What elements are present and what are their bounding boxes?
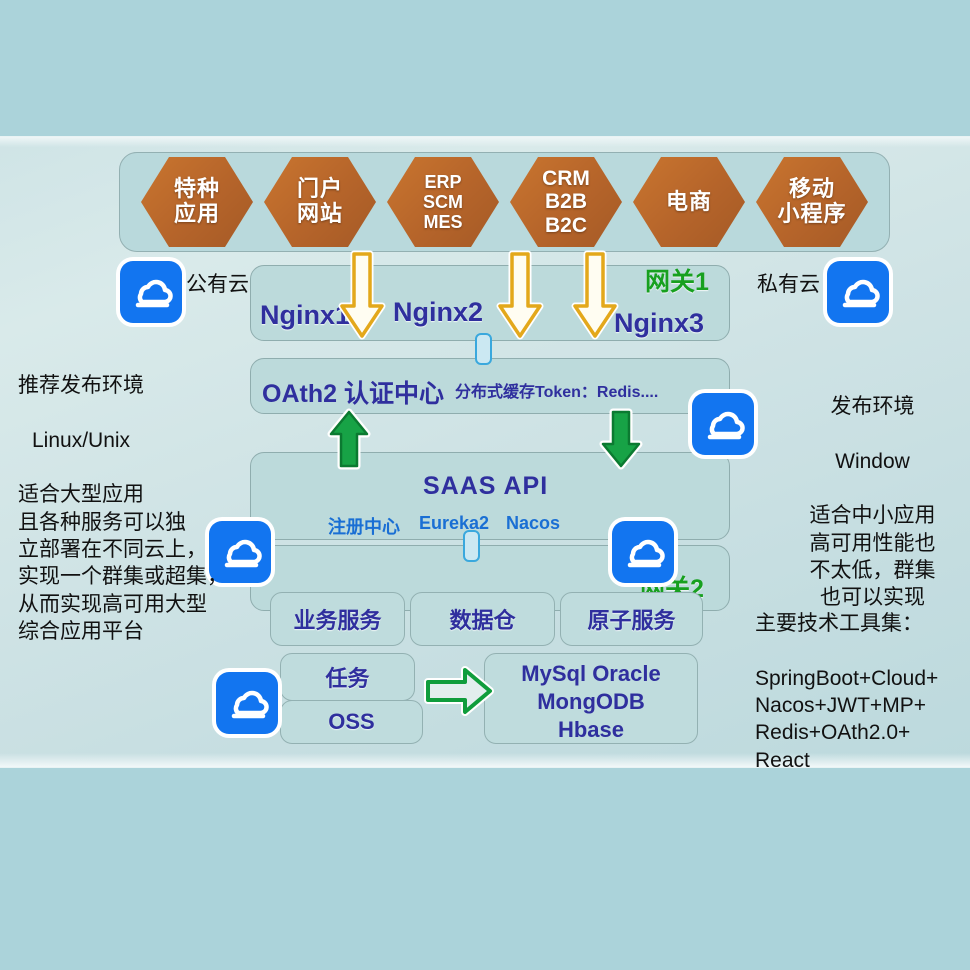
note-left-platform: Linux/Unix xyxy=(18,429,130,452)
app-hex-ecommerce[interactable]: 电商 xyxy=(633,157,745,247)
app-hex-special-app[interactable]: 特种应用 xyxy=(141,157,253,247)
cloud-icon-gateway2[interactable] xyxy=(612,521,674,583)
chip-atomic-service[interactable]: 原子服务 xyxy=(560,592,703,646)
cloud-glyph xyxy=(699,404,747,444)
note-stack-heading: 主要技术工具集： xyxy=(755,612,923,635)
public-cloud-icon[interactable] xyxy=(120,261,182,323)
cloud-glyph xyxy=(834,272,882,312)
application-hexagon-row: 特种应用 门户网站 ERPSCMMES CRMB2BB2C 电商 移动小程序 xyxy=(119,152,890,252)
db-line-1: MySql Oracle xyxy=(521,661,660,686)
database-label: MySql Oracle MongODB Hbase xyxy=(484,660,698,744)
app-hex-portal-site[interactable]: 门户网站 xyxy=(264,157,376,247)
private-cloud-icon[interactable] xyxy=(827,261,889,323)
app-hex-label: 电商 xyxy=(662,190,716,215)
app-hex-label: 特种应用 xyxy=(170,177,224,226)
chip-business-service[interactable]: 业务服务 xyxy=(270,592,405,646)
chip-oss[interactable]: OSS xyxy=(280,700,423,744)
note-left-heading: 推荐发布环境 xyxy=(18,374,144,397)
chip-data-warehouse[interactable]: 数据仓 xyxy=(410,592,555,646)
note-tech-stack: 主要技术工具集： SpringBoot+Cloud+ Nacos+JWT+MP+… xyxy=(755,583,965,774)
app-hex-mobile-applet[interactable]: 移动小程序 xyxy=(756,157,868,247)
nginx1-label[interactable]: Nginx1 xyxy=(260,300,350,331)
chip-task[interactable]: 任务 xyxy=(280,653,415,701)
cloud-glyph xyxy=(619,532,667,572)
note-left-deployment: 推荐发布环境 Linux/Unix 适合大型应用 且各种服务可以独 立部署在不同… xyxy=(18,345,248,645)
arrow-up-auth xyxy=(327,408,371,470)
app-hex-label: CRMB2BB2C xyxy=(538,167,594,238)
arrow-down-3 xyxy=(571,250,619,342)
diagram-canvas: 特种应用 门户网站 ERPSCMMES CRMB2BB2C 电商 移动小程序 N… xyxy=(0,0,970,970)
app-hex-label: 移动小程序 xyxy=(773,177,850,226)
note-stack-body: SpringBoot+Cloud+ Nacos+JWT+MP+ Redis+OA… xyxy=(755,667,938,772)
db-line-3: Hbase xyxy=(558,717,624,742)
registry-item-eureka2[interactable]: Eureka2 xyxy=(419,513,489,534)
public-cloud-label: 公有云 xyxy=(186,268,249,298)
registry-center-label: 注册中心 xyxy=(328,513,400,539)
note-right-platform: Window xyxy=(780,448,965,475)
app-hex-crm-b2b-b2c[interactable]: CRMB2BB2C xyxy=(510,157,622,247)
distributed-cache-note: 分布式缓存Token：Redis.... xyxy=(455,378,658,402)
nginx3-label[interactable]: Nginx3 xyxy=(614,308,704,339)
app-hex-label: 门户网站 xyxy=(293,177,347,226)
cloud-icon-task-left[interactable] xyxy=(216,672,278,734)
cloud-glyph xyxy=(223,683,271,723)
arrow-down-1 xyxy=(338,250,386,342)
cloud-icon-auth-right[interactable] xyxy=(692,393,754,455)
note-right-heading: 发布环境 xyxy=(780,393,965,420)
db-line-2: MongODB xyxy=(537,689,645,714)
nginx2-label[interactable]: Nginx2 xyxy=(393,297,483,328)
saas-api-title: SAAS API xyxy=(423,472,548,501)
private-cloud-label: 私有云 xyxy=(757,268,820,298)
arrow-down-token xyxy=(599,408,643,470)
app-hex-erp-scm-mes[interactable]: ERPSCMMES xyxy=(387,157,499,247)
app-hex-label: ERPSCMMES xyxy=(419,172,467,232)
connector-saas-to-services xyxy=(463,530,480,562)
registry-item-nacos[interactable]: Nacos xyxy=(506,513,560,534)
arrow-right-db xyxy=(423,663,495,719)
note-left-body: 适合大型应用 且各种服务可以独 立部署在不同云上， 实现一个群集或超集， 从而实… xyxy=(18,483,228,642)
connector-gateway-to-oauth xyxy=(475,333,492,365)
oauth2-title: OAth2 认证中心 xyxy=(262,374,444,410)
cloud-glyph xyxy=(127,272,175,312)
gateway1-label: 网关1 xyxy=(645,262,709,298)
note-right-deployment: 发布环境 Window 适合中小应用 高可用性能也 不太低，群集 也可以实现 xyxy=(780,366,965,612)
arrow-down-2 xyxy=(496,250,544,342)
